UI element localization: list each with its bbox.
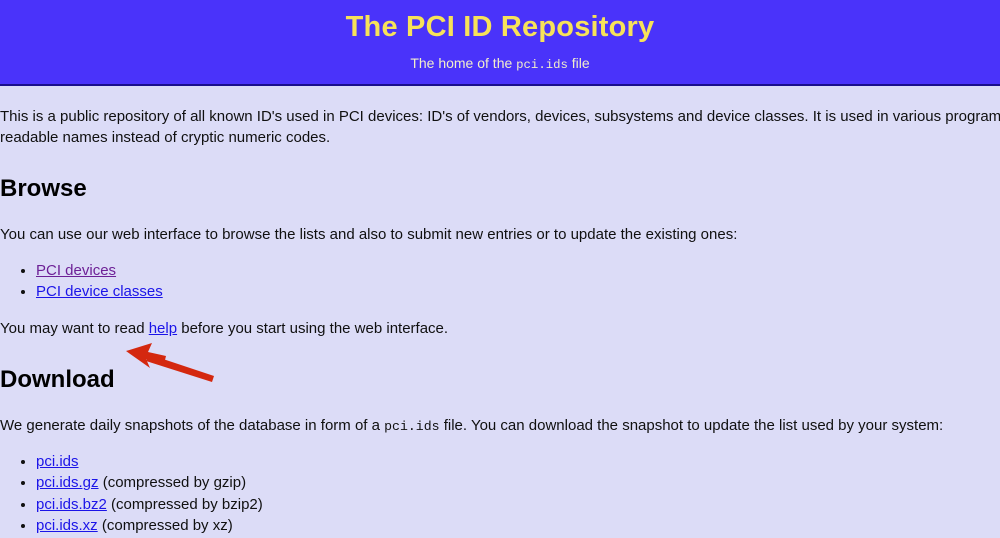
download-lead-before: We generate daily snapshots of the datab… <box>0 417 384 434</box>
link-suffix: (compressed by xz) <box>98 517 233 534</box>
intro-paragraph: This is a public repository of all known… <box>0 86 1000 149</box>
page-subtitle: The home of the pci.ids file <box>0 54 1000 73</box>
banner-inner: The PCI ID Repository The home of the pc… <box>0 0 1000 73</box>
link-pci-ids-bz2[interactable]: pci.ids.bz2 <box>36 496 107 513</box>
link-pci-device-classes[interactable]: PCI device classes <box>36 283 163 300</box>
list-item: pci.ids.bz2 (compressed by bzip2) <box>36 494 1000 515</box>
download-link-list: pci.ids pci.ids.gz (compressed by gzip) … <box>0 451 1000 536</box>
link-suffix: (compressed by gzip) <box>99 474 247 491</box>
arrow-head <box>126 343 166 368</box>
link-pci-devices[interactable]: PCI devices <box>36 262 116 279</box>
list-item: PCI devices <box>36 260 1000 281</box>
download-heading: Download <box>0 366 1000 395</box>
link-pci-ids-gz[interactable]: pci.ids.gz <box>36 474 99 491</box>
link-help[interactable]: help <box>149 320 177 337</box>
subtitle-text-after: file <box>568 55 590 71</box>
list-item: pci.ids <box>36 451 1000 472</box>
subtitle-code-pci-ids: pci.ids <box>516 58 568 72</box>
main-content: This is a public repository of all known… <box>0 86 1000 536</box>
link-suffix: (compressed by bzip2) <box>107 496 263 513</box>
list-item: PCI device classes <box>36 281 1000 302</box>
link-pci-ids[interactable]: pci.ids <box>36 453 79 470</box>
list-item: pci.ids.xz (compressed by xz) <box>36 515 1000 536</box>
page-title: The PCI ID Repository <box>0 9 1000 45</box>
download-lead-after: file. You can download the snapshot to u… <box>440 417 944 434</box>
download-code-pci-ids: pci.ids <box>384 419 439 434</box>
link-pci-ids-xz[interactable]: pci.ids.xz <box>36 517 98 534</box>
help-note-before: You may want to read <box>0 320 149 337</box>
browse-link-list: PCI devices PCI device classes <box>0 260 1000 303</box>
download-lead-text: We generate daily snapshots of the datab… <box>0 415 1000 437</box>
help-note-after: before you start using the web interface… <box>177 320 448 337</box>
browse-heading: Browse <box>0 175 1000 204</box>
browse-lead-text: You can use our web interface to browse … <box>0 224 1000 245</box>
site-header-banner: The PCI ID Repository The home of the pc… <box>0 0 1000 86</box>
browse-help-note: You may want to read help before you sta… <box>0 318 1000 339</box>
subtitle-text-before: The home of the <box>410 55 516 71</box>
list-item: pci.ids.gz (compressed by gzip) <box>36 472 1000 493</box>
